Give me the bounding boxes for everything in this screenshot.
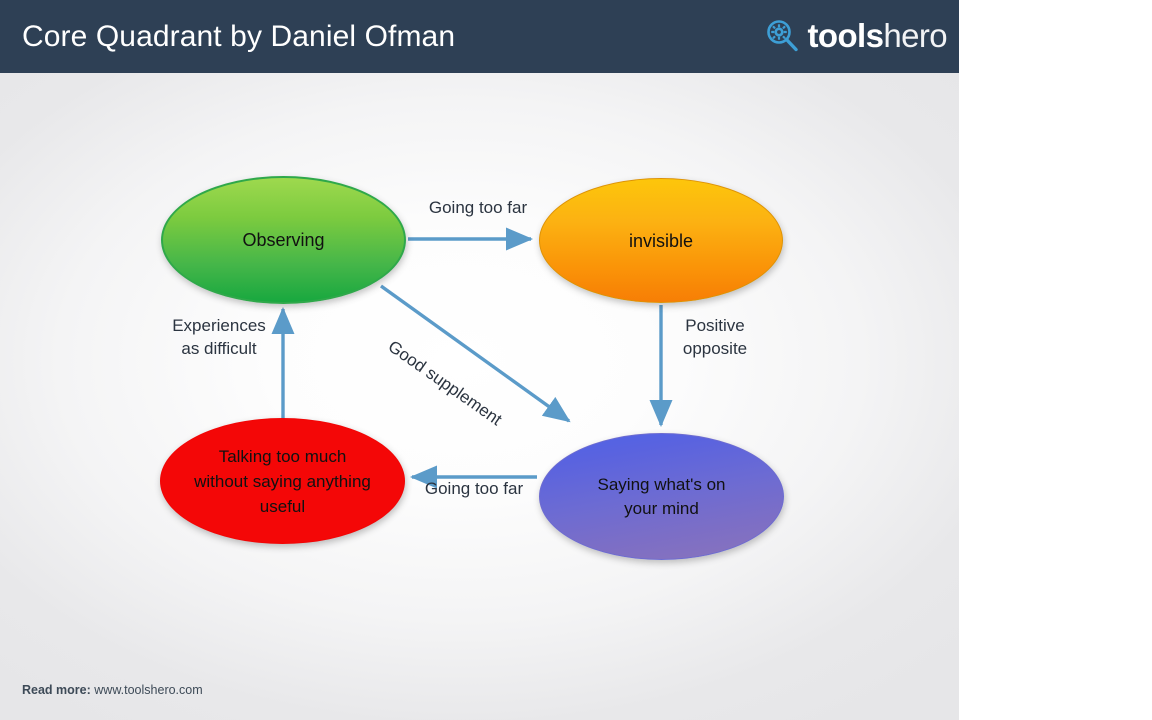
- node-green-label: Observing: [226, 229, 340, 251]
- edge-label-experiences-as-difficult: Experiences as difficult: [144, 314, 294, 360]
- logo-word-tools: tools: [808, 17, 884, 54]
- node-pitfall[interactable]: Talking too much without saying anything…: [160, 418, 405, 544]
- arrow-layer: [0, 73, 959, 653]
- footer-url[interactable]: www.toolshero.com: [94, 683, 202, 697]
- footer-read-more: Read more: www.toolshero.com: [22, 682, 203, 698]
- node-purple-label: Saying what's on your mind: [582, 473, 742, 521]
- slide-canvas: Core Quadrant by Daniel Ofman: [0, 0, 959, 720]
- edge-label-going-too-far-bottom: Going too far: [404, 477, 544, 500]
- node-allergy[interactable]: invisible: [539, 178, 783, 303]
- node-core-quality[interactable]: Observing: [161, 176, 406, 304]
- footer-lead: Read more:: [22, 683, 91, 697]
- logo-word-hero: hero: [883, 17, 947, 54]
- node-red-label: Talking too much without saying anything…: [178, 444, 387, 519]
- edge-label-going-too-far-top: Going too far: [413, 196, 543, 219]
- page-title: Core Quadrant by Daniel Ofman: [22, 19, 455, 55]
- core-quadrant-diagram: Observing invisible Talking too much wit…: [0, 73, 959, 653]
- magnifier-gear-icon: [765, 19, 799, 53]
- toolshero-logo: toolshero: [765, 14, 947, 58]
- node-orange-label: invisible: [613, 230, 709, 252]
- slide-header: Core Quadrant by Daniel Ofman: [0, 0, 959, 73]
- logo-wordmark: toolshero: [808, 19, 947, 53]
- node-challenge[interactable]: Saying what's on your mind: [539, 433, 784, 560]
- edge-label-positive-opposite: Positive opposite: [660, 314, 770, 360]
